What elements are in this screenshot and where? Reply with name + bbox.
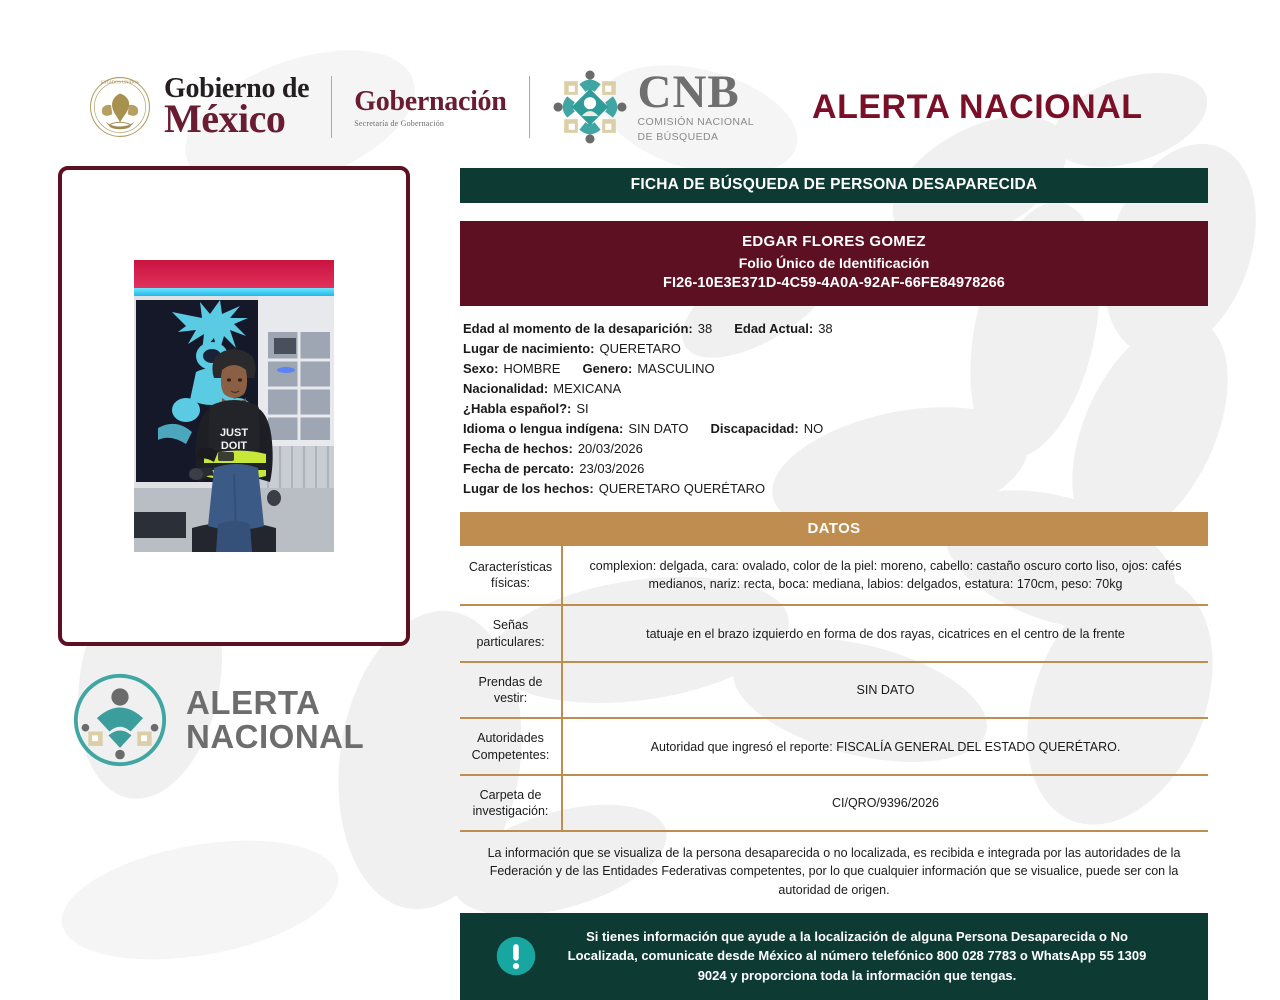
fact-row: Fecha de hechos:20/03/2026 [463, 438, 1208, 458]
gobernacion-line2: Secretaría de Gobernación [354, 119, 506, 128]
mexican-coat-of-arms-icon: ESTADOS UNIDOS [88, 70, 152, 144]
datos-row: Características físicas:complexion: delg… [460, 546, 1208, 605]
fact-key: Idioma o lengua indígena: [463, 421, 623, 436]
datos-header: DATOS [460, 512, 1208, 546]
fact-row: Lugar de nacimiento:QUERETARO [463, 338, 1208, 358]
datos-row: Autoridades Competentes:Autoridad que in… [460, 718, 1208, 775]
fact-key: Discapacidad: [711, 421, 799, 436]
fact-value: HOMBRE [503, 361, 560, 376]
fact-key: Fecha de percato: [463, 461, 574, 476]
fact-key: ¿Habla español?: [463, 401, 571, 416]
fact-row: Edad al momento de la desaparición:38Eda… [463, 318, 1208, 338]
fact-value: SI [576, 401, 588, 416]
fact-value: 20/03/2026 [578, 441, 643, 456]
datos-row-label: Características físicas: [460, 546, 562, 605]
alert-title: ALERTA NACIONAL [812, 88, 1142, 127]
sheet-content: FICHA DE BÚSQUEDA DE PERSONA DESAPARECID… [460, 168, 1208, 1000]
cnb-logo-icon [552, 69, 628, 145]
fact-value: NO [804, 421, 824, 436]
person-identity-bar: EDGAR FLORES GOMEZ Folio Único de Identi… [460, 221, 1208, 306]
fact-value: 38 [698, 321, 712, 336]
datos-row-label: Carpeta de investigación: [460, 775, 562, 832]
datos-row-value: tatuaje en el brazo izquierdo en forma d… [562, 605, 1208, 662]
gobierno-de-mexico-wordmark: Gobierno de México [164, 76, 309, 139]
gobierno-line2: México [164, 100, 309, 138]
datos-row-value: SIN DATO [562, 662, 1208, 719]
fact-row: Fecha de percato:23/03/2026 [463, 458, 1208, 478]
disclaimer-text: La información que se visualiza de la pe… [460, 844, 1208, 898]
datos-row: Prendas de vestir:SIN DATO [460, 662, 1208, 719]
contact-message: Si tienes información que ayude a la loc… [538, 927, 1188, 986]
cnb-name-line1: COMISIÓN NACIONAL [638, 116, 754, 129]
person-name: EDGAR FLORES GOMEZ [460, 231, 1208, 253]
cnb-name-line2: DE BÚSQUEDA [638, 131, 754, 144]
fact-key: Genero: [582, 361, 632, 376]
svg-text:JUST: JUST [220, 427, 248, 439]
fact-row: ¿Habla español?:SI [463, 398, 1208, 418]
person-facts-list: Edad al momento de la desaparición:38Eda… [460, 318, 1208, 498]
fact-key: Lugar de nacimiento: [463, 341, 594, 356]
missing-person-photo: JUST DOIT [134, 260, 334, 552]
cnb-text: CNB COMISIÓN NACIONAL DE BÚSQUEDA [638, 71, 754, 143]
alerta-logo-line2: NACIONAL [186, 720, 364, 754]
datos-row: Carpeta de investigación:CI/QRO/9396/202… [460, 775, 1208, 832]
header-divider-2 [529, 76, 530, 138]
contact-banner: Si tienes información que ayude a la loc… [460, 913, 1208, 1000]
fact-value: MEXICANA [553, 381, 621, 396]
page-header: ESTADOS UNIDOS Gobierno de México Gobern… [0, 62, 1280, 152]
fact-value: QUERETARO QUERÉTARO [599, 481, 765, 496]
fact-key: Nacionalidad: [463, 381, 548, 396]
fact-value: MASCULINO [637, 361, 714, 376]
datos-row: Señas particulares:tatuaje en el brazo i… [460, 605, 1208, 662]
fact-key: Lugar de los hechos: [463, 481, 594, 496]
sheet-title-bar: FICHA DE BÚSQUEDA DE PERSONA DESAPARECID… [460, 168, 1208, 203]
photo-container: JUST DOIT [72, 180, 396, 632]
datos-row-label: Señas particulares: [460, 605, 562, 662]
fact-value: 23/03/2026 [579, 461, 644, 476]
gobernacion-wordmark: Gobernación Secretaría de Gobernación [354, 86, 506, 128]
fact-row: Sexo:HOMBREGenero:MASCULINO [463, 358, 1208, 378]
alerta-nacional-logo: ALERTA NACIONAL [72, 672, 412, 768]
fact-value: 38 [818, 321, 832, 336]
alerta-logo-line1: ALERTA [186, 686, 364, 720]
svg-text:ESTADOS UNIDOS: ESTADOS UNIDOS [101, 79, 139, 84]
datos-row-value: complexion: delgada, cara: ovalado, colo… [562, 546, 1208, 605]
fact-key: Sexo: [463, 361, 498, 376]
fact-row: Nacionalidad:MEXICANA [463, 378, 1208, 398]
datos-row-label: Prendas de vestir: [460, 662, 562, 719]
datos-row-label: Autoridades Competentes: [460, 718, 562, 775]
datos-row-value: CI/QRO/9396/2026 [562, 775, 1208, 832]
exclamation-circle-icon [494, 934, 538, 978]
svg-text:DOIT: DOIT [221, 440, 248, 452]
fact-value: SIN DATO [628, 421, 688, 436]
cnb-acronym: CNB [638, 71, 754, 114]
photo-frame: JUST DOIT [58, 166, 410, 646]
fact-value: QUERETARO [599, 341, 680, 356]
alerta-nacional-wordmark: ALERTA NACIONAL [186, 686, 364, 753]
datos-row-value: Autoridad que ingresó el reporte: FISCAL… [562, 718, 1208, 775]
cnb-branding: CNB COMISIÓN NACIONAL DE BÚSQUEDA [552, 69, 754, 145]
folio-label: Folio Único de Identificación [460, 253, 1208, 273]
fact-row: Lugar de los hechos:QUERETARO QUERÉTARO [463, 478, 1208, 498]
header-divider-1 [331, 76, 332, 138]
fact-key: Edad Actual: [734, 321, 813, 336]
alerta-nacional-logo-icon [72, 672, 168, 768]
fact-row: Idioma o lengua indígena:SIN DATODiscapa… [463, 418, 1208, 438]
datos-table: Características físicas:complexion: delg… [460, 546, 1208, 832]
alert-sheet-page: ESTADOS UNIDOS Gobierno de México Gobern… [0, 0, 1280, 990]
fact-key: Edad al momento de la desaparición: [463, 321, 693, 336]
folio-value: FI26-10E3E371D-4C59-4A0A-92AF-66FE849782… [460, 273, 1208, 294]
fact-key: Fecha de hechos: [463, 441, 573, 456]
gobernacion-line1: Gobernación [354, 86, 506, 118]
